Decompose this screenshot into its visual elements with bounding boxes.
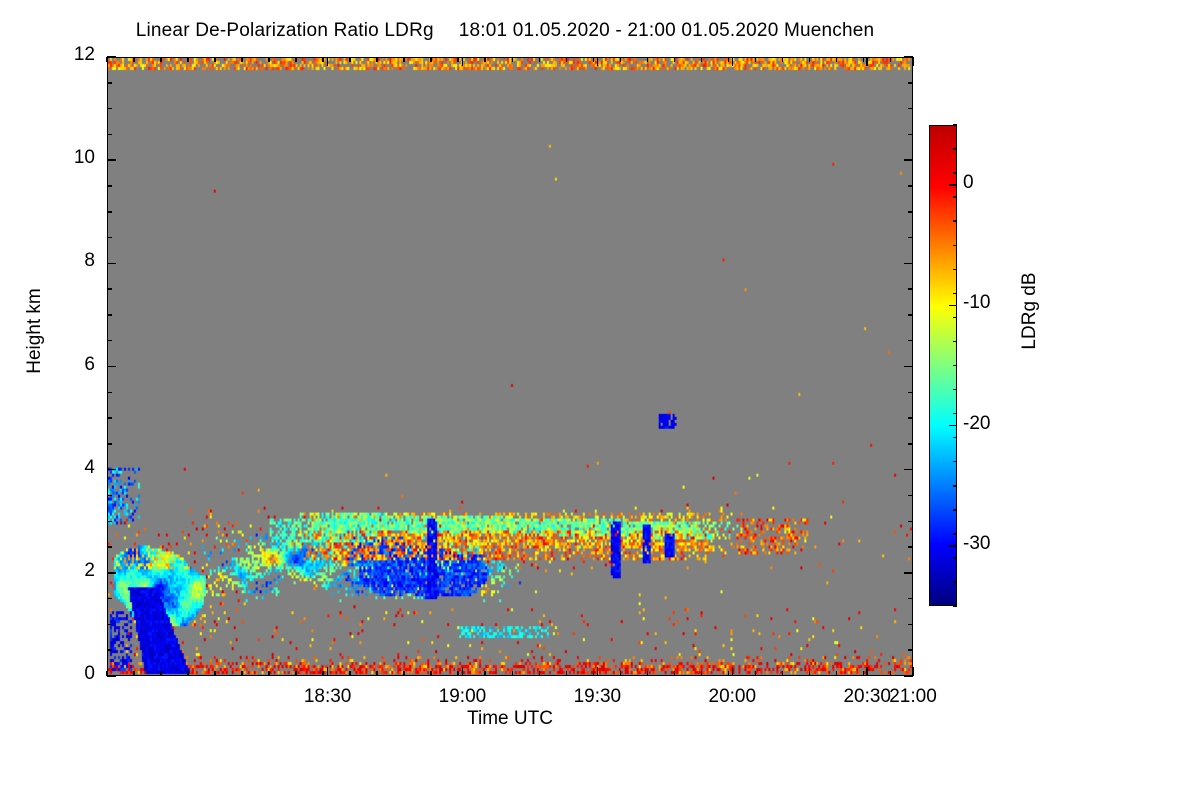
y-tick-minor (908, 82, 913, 84)
x-tick-minor (728, 57, 730, 62)
y-tick-minor (107, 495, 112, 497)
y-tick-minor (908, 392, 913, 394)
y-tick-major (107, 675, 116, 677)
y-tick-minor (107, 392, 112, 394)
x-tick-minor (484, 671, 486, 676)
y-tick-minor (908, 340, 913, 342)
y-tick-minor (107, 237, 112, 239)
y-tick-minor (107, 288, 112, 290)
y-tick-minor (107, 598, 112, 600)
colorbar-tick-major (949, 184, 957, 186)
colorbar-tick-major (949, 545, 957, 547)
x-tick-minor (647, 671, 649, 676)
x-tick-minor (403, 57, 405, 62)
y-tick-label: 4 (35, 457, 95, 479)
x-tick-minor (295, 57, 297, 62)
y-tick-label: 0 (35, 663, 95, 685)
x-tick-minor (593, 671, 595, 676)
x-tick-minor (539, 671, 541, 676)
x-tick-major (732, 57, 734, 66)
y-tick-major (904, 675, 913, 677)
x-tick-minor (322, 57, 324, 62)
x-tick-minor (430, 671, 432, 676)
x-tick-major (462, 667, 464, 676)
colorbar-tick-major (949, 425, 957, 427)
colorbar-tick-minor (953, 269, 957, 271)
y-tick-major (904, 469, 913, 471)
x-tick-major (866, 667, 868, 676)
colorbar-tick-minor (953, 341, 957, 343)
x-tick-label: 19:30 (537, 686, 657, 708)
x-tick-minor (349, 57, 351, 62)
colorbar-tick-minor (953, 557, 957, 559)
x-tick-minor (133, 57, 135, 62)
y-tick-major (107, 56, 116, 58)
y-tick-minor (107, 546, 112, 548)
colorbar-tick-label: -10 (963, 292, 990, 314)
y-tick-minor (908, 237, 913, 239)
colorbar-tick-minor (953, 220, 957, 222)
plot-title: Linear De-Polarization Ratio LDRg 18:01 … (0, 20, 1010, 42)
x-tick-minor (457, 57, 459, 62)
colorbar-tick-label: -20 (963, 413, 990, 435)
x-tick-minor (701, 57, 703, 62)
y-tick-minor (107, 624, 112, 626)
x-tick-minor (430, 57, 432, 62)
colorbar-tick-minor (953, 437, 957, 439)
x-tick-minor (674, 57, 676, 62)
y-tick-minor (908, 288, 913, 290)
x-tick-minor (701, 671, 703, 676)
y-tick-minor (107, 108, 112, 110)
x-axis-title: Time UTC (107, 708, 913, 730)
x-tick-major (327, 667, 329, 676)
y-tick-label: 2 (35, 560, 95, 582)
x-tick-minor (376, 57, 378, 62)
y-tick-minor (107, 185, 112, 187)
colorbar-tick-minor (953, 509, 957, 511)
colorbar-tick-minor (953, 485, 957, 487)
colorbar-tick-minor (953, 317, 957, 319)
x-tick-minor (890, 57, 892, 62)
y-tick-minor (908, 417, 913, 419)
x-tick-label: 21:00 (853, 686, 973, 708)
x-tick-minor (512, 57, 514, 62)
x-tick-minor (214, 57, 216, 62)
x-tick-minor (160, 57, 162, 62)
y-tick-minor (908, 134, 913, 136)
x-tick-minor (160, 671, 162, 676)
colorbar-tick-minor (953, 461, 957, 463)
x-tick-minor (133, 671, 135, 676)
x-tick-minor (782, 671, 784, 676)
y-tick-label: 12 (35, 44, 95, 66)
colorbar-title: LDRg dB (1019, 221, 1041, 401)
x-tick-minor (755, 57, 757, 62)
plot-title-timerange: 18:01 01.05.2020 - 21:00 01.05.2020 Muen… (459, 20, 875, 42)
x-tick-label: 20:00 (672, 686, 792, 708)
x-tick-minor (566, 57, 568, 62)
x-tick-minor (593, 57, 595, 62)
x-tick-minor (674, 671, 676, 676)
x-tick-label: 18:30 (268, 686, 388, 708)
x-tick-major (912, 57, 914, 66)
x-tick-minor (836, 57, 838, 62)
x-tick-minor (241, 57, 243, 62)
colorbar-tick-minor (953, 245, 957, 247)
y-tick-minor (908, 624, 913, 626)
x-tick-minor (268, 671, 270, 676)
y-tick-major (107, 263, 116, 265)
x-tick-major (327, 57, 329, 66)
colorbar-tick-major (949, 305, 957, 307)
colorbar-tick-minor (953, 365, 957, 367)
y-tick-minor (107, 417, 112, 419)
x-tick-minor (484, 57, 486, 62)
colorbar-tick-minor (953, 605, 957, 607)
plot-title-main: Linear De-Polarization Ratio LDRg (136, 20, 434, 42)
y-tick-minor (908, 185, 913, 187)
colorbar-tick-minor (953, 413, 957, 415)
colorbar-tick-label: 0 (963, 172, 974, 194)
x-tick-minor (214, 671, 216, 676)
x-tick-major (597, 57, 599, 66)
x-tick-minor (566, 671, 568, 676)
colorbar-tick-minor (953, 293, 957, 295)
colorbar-tick-minor (953, 196, 957, 198)
x-tick-minor (809, 671, 811, 676)
y-tick-major (107, 469, 116, 471)
x-tick-major (866, 57, 868, 66)
plot-area[interactable] (107, 57, 913, 676)
y-tick-minor (107, 443, 112, 445)
y-tick-minor (908, 598, 913, 600)
y-tick-minor (908, 546, 913, 548)
y-tick-minor (107, 211, 112, 213)
x-tick-minor (863, 57, 865, 62)
y-tick-major (904, 263, 913, 265)
x-tick-minor (890, 671, 892, 676)
y-tick-major (904, 572, 913, 574)
y-tick-minor (908, 521, 913, 523)
colorbar-tick-minor (953, 172, 957, 174)
y-tick-minor (107, 340, 112, 342)
x-tick-minor (728, 671, 730, 676)
y-tick-major (107, 572, 116, 574)
y-tick-minor (107, 649, 112, 651)
x-tick-minor (241, 671, 243, 676)
x-tick-minor (349, 671, 351, 676)
colorbar-tick-minor (953, 389, 957, 391)
x-tick-minor (836, 671, 838, 676)
y-tick-minor (908, 108, 913, 110)
x-tick-minor (512, 671, 514, 676)
y-tick-minor (908, 211, 913, 213)
colorbar-tick-label: -30 (963, 533, 990, 555)
ldr-heatmap-canvas (108, 58, 912, 675)
y-tick-minor (908, 649, 913, 651)
x-tick-minor (782, 57, 784, 62)
x-tick-major (732, 667, 734, 676)
y-tick-minor (107, 314, 112, 316)
x-tick-minor (106, 57, 108, 62)
colorbar-tick-minor (953, 581, 957, 583)
y-tick-major (904, 366, 913, 368)
x-tick-minor (647, 57, 649, 62)
x-tick-minor (863, 671, 865, 676)
y-tick-label: 10 (35, 147, 95, 169)
x-tick-minor (539, 57, 541, 62)
y-tick-minor (107, 134, 112, 136)
y-tick-major (107, 366, 116, 368)
figure-root: Linear De-Polarization Ratio LDRg 18:01 … (0, 0, 1200, 800)
x-tick-minor (620, 57, 622, 62)
x-tick-label: 19:00 (402, 686, 522, 708)
x-tick-minor (620, 671, 622, 676)
y-tick-major (904, 56, 913, 58)
y-tick-minor (107, 82, 112, 84)
x-tick-minor (457, 671, 459, 676)
y-tick-minor (908, 314, 913, 316)
x-tick-minor (295, 671, 297, 676)
colorbar-tick-minor (953, 533, 957, 535)
x-tick-minor (187, 57, 189, 62)
x-tick-minor (755, 671, 757, 676)
colorbar-tick-minor (953, 124, 957, 126)
y-tick-minor (908, 443, 913, 445)
x-tick-major (462, 57, 464, 66)
x-tick-minor (322, 671, 324, 676)
y-tick-minor (908, 495, 913, 497)
x-tick-minor (376, 671, 378, 676)
x-tick-major (597, 667, 599, 676)
y-tick-major (904, 159, 913, 161)
y-tick-minor (107, 521, 112, 523)
y-tick-major (107, 159, 116, 161)
colorbar-tick-minor (953, 148, 957, 150)
y-axis-title: Height km (24, 251, 46, 411)
x-tick-minor (809, 57, 811, 62)
x-tick-minor (187, 671, 189, 676)
x-tick-minor (268, 57, 270, 62)
x-tick-minor (403, 671, 405, 676)
